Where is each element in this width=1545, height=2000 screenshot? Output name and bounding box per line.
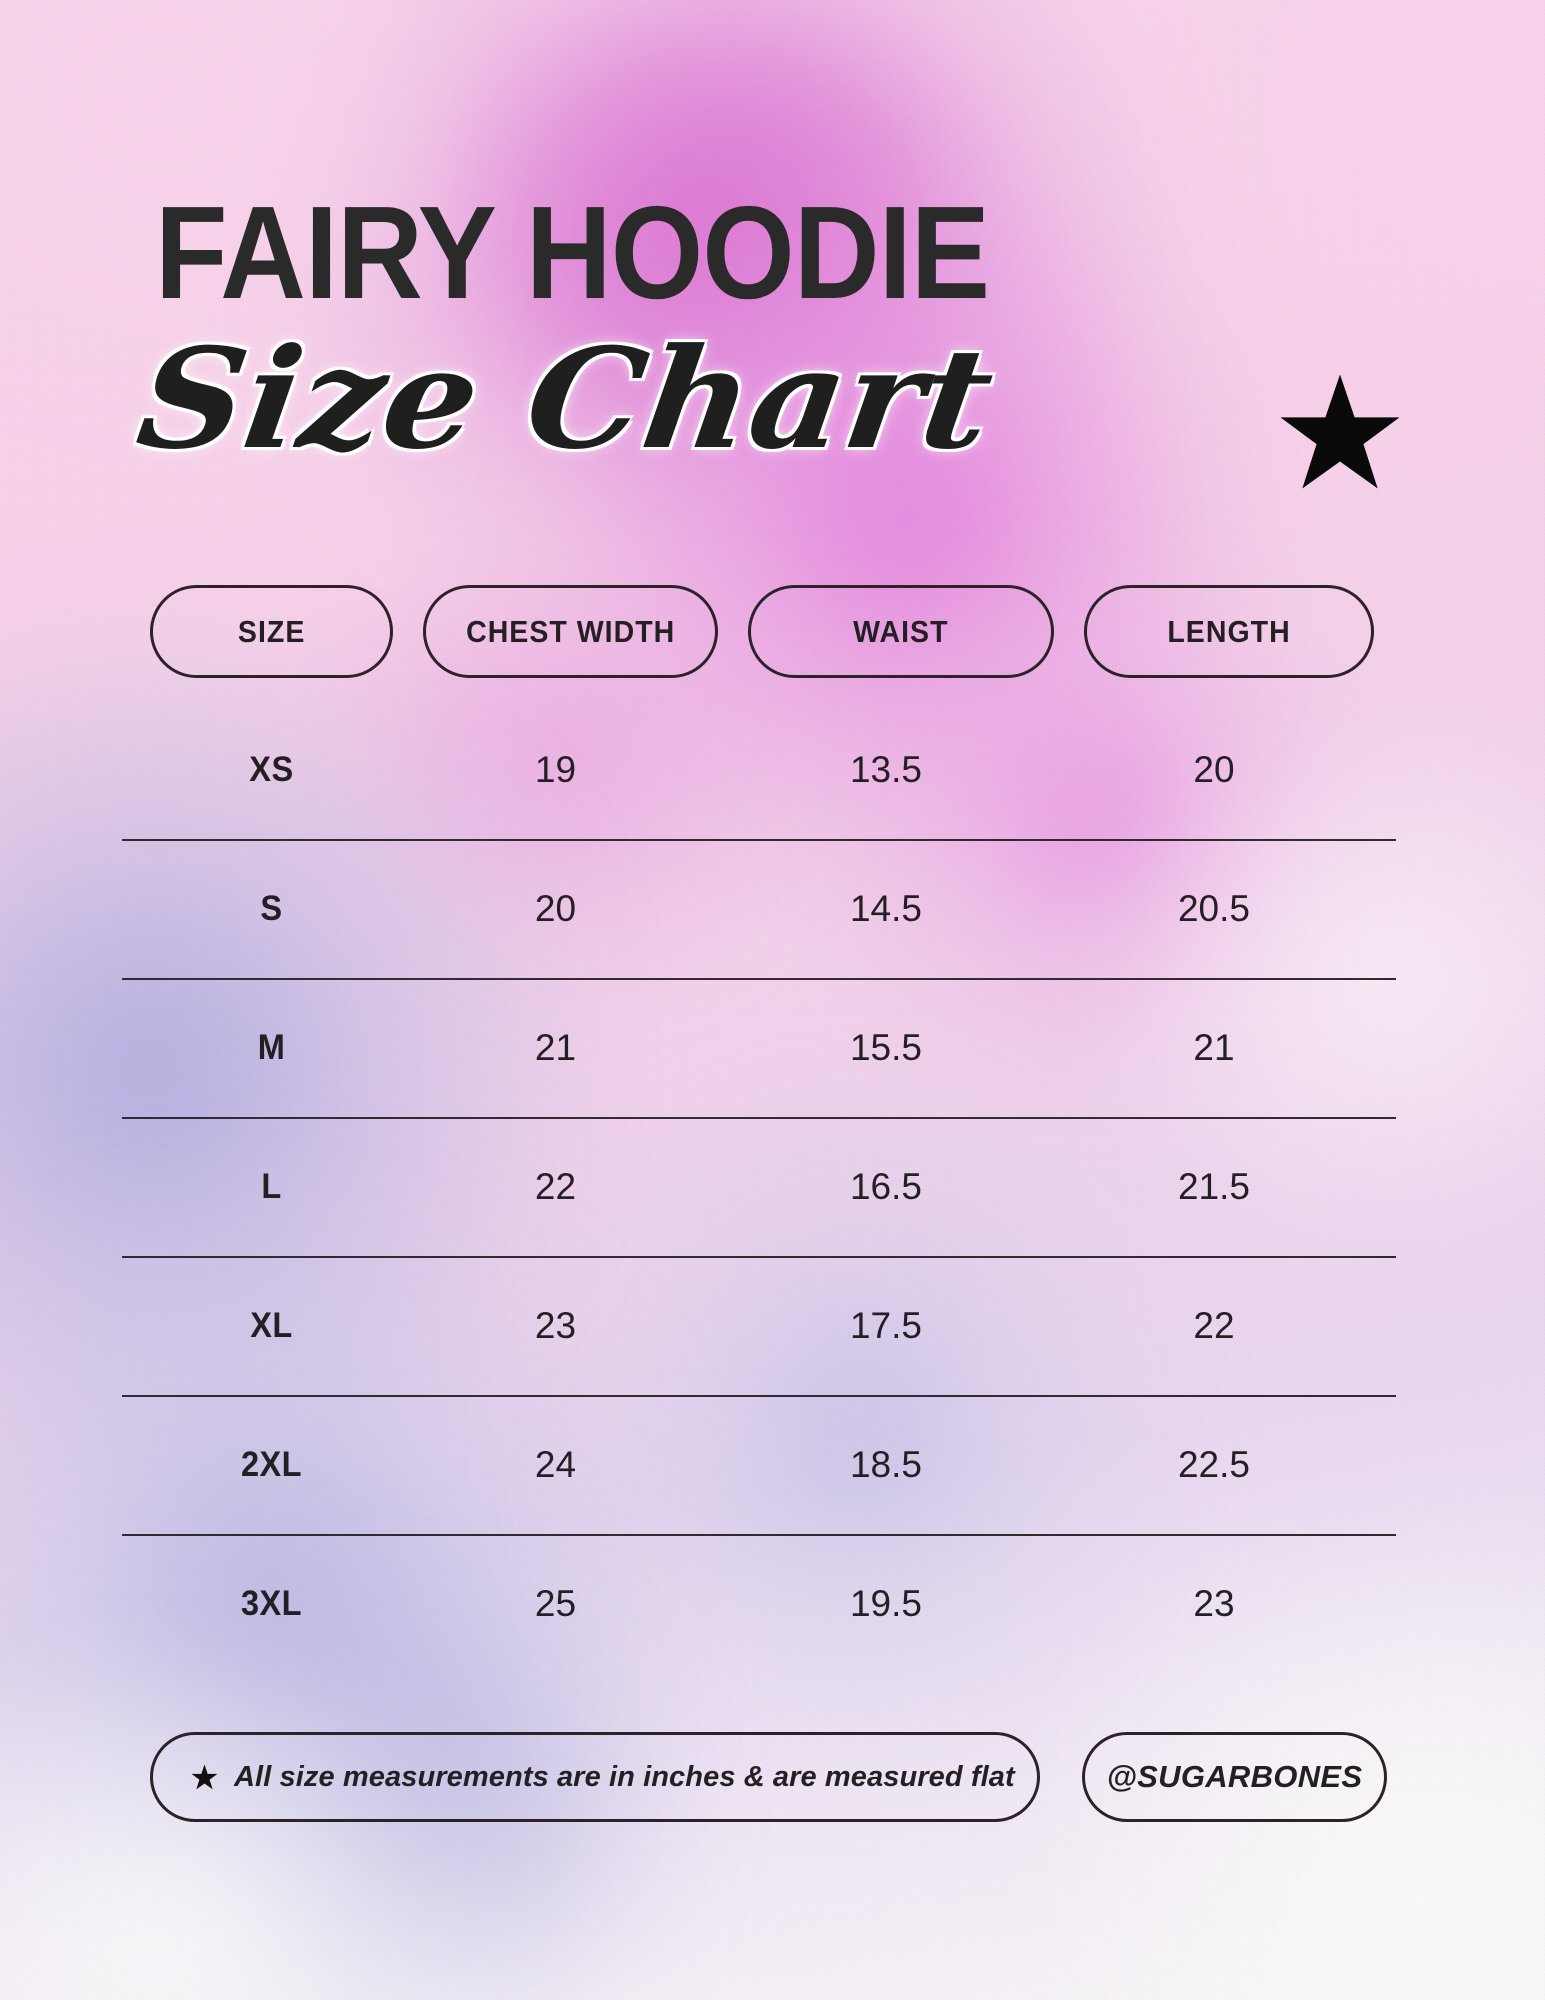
star-icon xyxy=(191,1764,218,1791)
table-row: 3XL 25 19.5 23 xyxy=(150,1534,1390,1673)
column-header-length[interactable]: LENGTH xyxy=(1084,585,1374,678)
column-header-waist-label: WAIST xyxy=(853,614,948,650)
column-header-size[interactable]: SIZE xyxy=(150,585,393,678)
table-row: XL 23 17.5 22 xyxy=(150,1256,1390,1395)
footer: All size measurements are in inches & ar… xyxy=(150,1732,1387,1822)
star-icon xyxy=(1278,372,1402,496)
cell-size: L xyxy=(159,1167,385,1207)
measurement-note-badge: All size measurements are in inches & ar… xyxy=(150,1732,1040,1822)
measurement-note-text: All size measurements are in inches & ar… xyxy=(234,1761,1015,1794)
cell-chest: 19 xyxy=(393,749,718,791)
table-row: XS 19 13.5 20 xyxy=(150,700,1390,839)
table-row: S 20 14.5 20.5 xyxy=(150,839,1390,978)
cell-size: XL xyxy=(159,1306,385,1346)
page-subtitle: Size Chart xyxy=(131,330,1001,468)
table-row: L 22 16.5 21.5 xyxy=(150,1117,1390,1256)
cell-chest: 24 xyxy=(393,1444,718,1486)
cell-waist: 13.5 xyxy=(718,749,1054,791)
cell-waist: 14.5 xyxy=(718,888,1054,930)
column-header-chest[interactable]: CHEST WIDTH xyxy=(423,585,718,678)
size-chart-poster: FAIRY HOODIE Size Chart SIZE CHEST WIDTH… xyxy=(0,0,1545,2000)
page-title: FAIRY HOODIE xyxy=(155,196,989,310)
cell-length: 21.5 xyxy=(1054,1166,1374,1208)
column-header-chest-label: CHEST WIDTH xyxy=(466,614,675,650)
cell-chest: 21 xyxy=(393,1027,718,1069)
size-table: XS 19 13.5 20 S 20 14.5 20.5 M 21 15.5 2… xyxy=(150,700,1390,1673)
column-header-size-label: SIZE xyxy=(238,614,305,650)
cell-chest: 20 xyxy=(393,888,718,930)
cell-size: M xyxy=(159,1028,385,1068)
cell-chest: 23 xyxy=(393,1305,718,1347)
cell-size: S xyxy=(159,889,385,929)
cell-size: 3XL xyxy=(159,1584,385,1624)
cell-length: 20.5 xyxy=(1054,888,1374,930)
cell-chest: 22 xyxy=(393,1166,718,1208)
cell-waist: 19.5 xyxy=(718,1583,1054,1625)
table-header-row: SIZE CHEST WIDTH WAIST LENGTH xyxy=(150,585,1395,678)
table-row: 2XL 24 18.5 22.5 xyxy=(150,1395,1390,1534)
table-row: M 21 15.5 21 xyxy=(150,978,1390,1117)
cell-waist: 15.5 xyxy=(718,1027,1054,1069)
brand-handle-badge[interactable]: @SUGARBONES xyxy=(1082,1732,1387,1822)
brand-handle-text: @SUGARBONES xyxy=(1107,1759,1363,1795)
cell-size: 2XL xyxy=(159,1445,385,1485)
cell-length: 20 xyxy=(1054,749,1374,791)
cell-length: 21 xyxy=(1054,1027,1374,1069)
cell-length: 22.5 xyxy=(1054,1444,1374,1486)
cell-waist: 17.5 xyxy=(718,1305,1054,1347)
cell-length: 22 xyxy=(1054,1305,1374,1347)
column-header-waist[interactable]: WAIST xyxy=(748,585,1054,678)
cell-waist: 18.5 xyxy=(718,1444,1054,1486)
column-header-length-label: LENGTH xyxy=(1167,614,1290,650)
cell-size: XS xyxy=(159,750,385,790)
cell-length: 23 xyxy=(1054,1583,1374,1625)
cell-waist: 16.5 xyxy=(718,1166,1054,1208)
cell-chest: 25 xyxy=(393,1583,718,1625)
